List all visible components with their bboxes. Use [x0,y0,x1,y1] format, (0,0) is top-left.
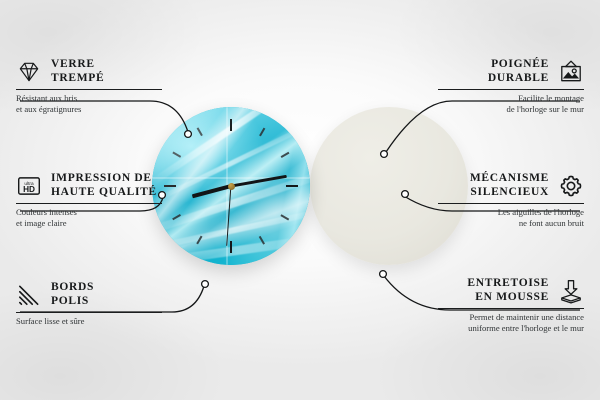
feature-title: VERRE TREMPÉ [51,58,104,85]
hd-label: HD [23,185,35,194]
hanging-frame-icon [558,59,584,85]
clock-tick [164,185,176,187]
divider [438,203,584,204]
feature-title: IMPRESSION DE HAUTE QUALITÉ [51,172,157,199]
feature-description: Les aiguilles de l'horloge ne font aucun… [438,207,584,228]
feature-description: Surface lisse et sûre [16,316,162,326]
feature-bords-polis: BORDS POLIS Surface lisse et sûre [16,281,162,327]
divider [16,203,162,204]
feature-description: Résistant aux bris et aux égratignures [16,93,162,114]
feature-title: MÉCANISME SILENCIEUX [470,172,549,199]
clock-tick [286,185,298,187]
feature-description: Couleurs intenses et image claire [16,207,162,228]
feature-verre-trempe: VERRE TREMPÉ Résistant aux bris et aux é… [16,58,162,114]
feature-title: POIGNÉE DURABLE [488,58,549,85]
divider [438,89,584,90]
polished-edges-icon [16,282,42,308]
divider [16,89,162,90]
feature-impression-haute-qualite: ultra HD IMPRESSION DE HAUTE QUALITÉ Cou… [16,172,162,228]
foam-spacer-icon [558,278,584,304]
gear-icon [558,173,584,199]
clock-center-hub [228,183,235,190]
feature-poignee-durable: POIGNÉE DURABLE Facilite le montage de l… [438,58,584,114]
feature-description: Permet de maintenir une distance uniform… [438,312,584,333]
feature-title: ENTRETOISE EN MOUSSE [467,277,549,304]
feature-title: BORDS POLIS [51,281,94,308]
infographic-canvas: VERRE TREMPÉ Résistant aux bris et aux é… [0,0,600,400]
ultra-hd-icon: ultra HD [16,173,42,199]
clock-tick [230,119,232,131]
clock-tick [230,241,232,253]
feature-mecanisme-silencieux: MÉCANISME SILENCIEUX Les aiguilles de l'… [438,172,584,228]
divider [438,308,584,309]
diamond-icon [16,59,42,85]
feature-entretoise-en-mousse: ENTRETOISE EN MOUSSE Permet de maintenir… [438,277,584,333]
feature-description: Facilite le montage de l'horloge sur le … [438,93,584,114]
divider [16,312,162,313]
clock-front-view [152,107,310,265]
